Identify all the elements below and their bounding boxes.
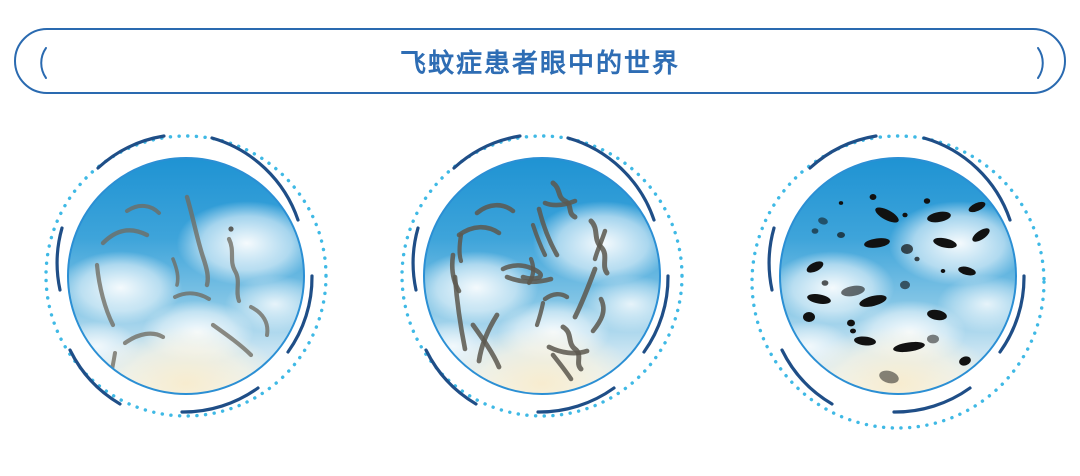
vision-circle-mild bbox=[36, 112, 336, 442]
sky-view-mild bbox=[67, 157, 305, 395]
floaters-layer-mild bbox=[69, 159, 305, 395]
banner-right-arc-icon bbox=[1038, 48, 1043, 78]
sky-view-moderate bbox=[423, 157, 661, 395]
title-banner: 飞蚊症患者眼中的世界 bbox=[14, 28, 1066, 94]
illustration-page: 飞蚊症患者眼中的世界 bbox=[0, 0, 1080, 476]
floaters-layer-severe bbox=[781, 159, 1017, 395]
sky-view-severe bbox=[779, 157, 1017, 395]
vision-circle-moderate bbox=[392, 112, 692, 442]
floaters-layer-moderate bbox=[425, 159, 661, 395]
page-title: 飞蚊症患者眼中的世界 bbox=[400, 43, 680, 80]
vision-circle-severe bbox=[748, 112, 1048, 442]
banner-left-arc-icon bbox=[41, 48, 46, 78]
